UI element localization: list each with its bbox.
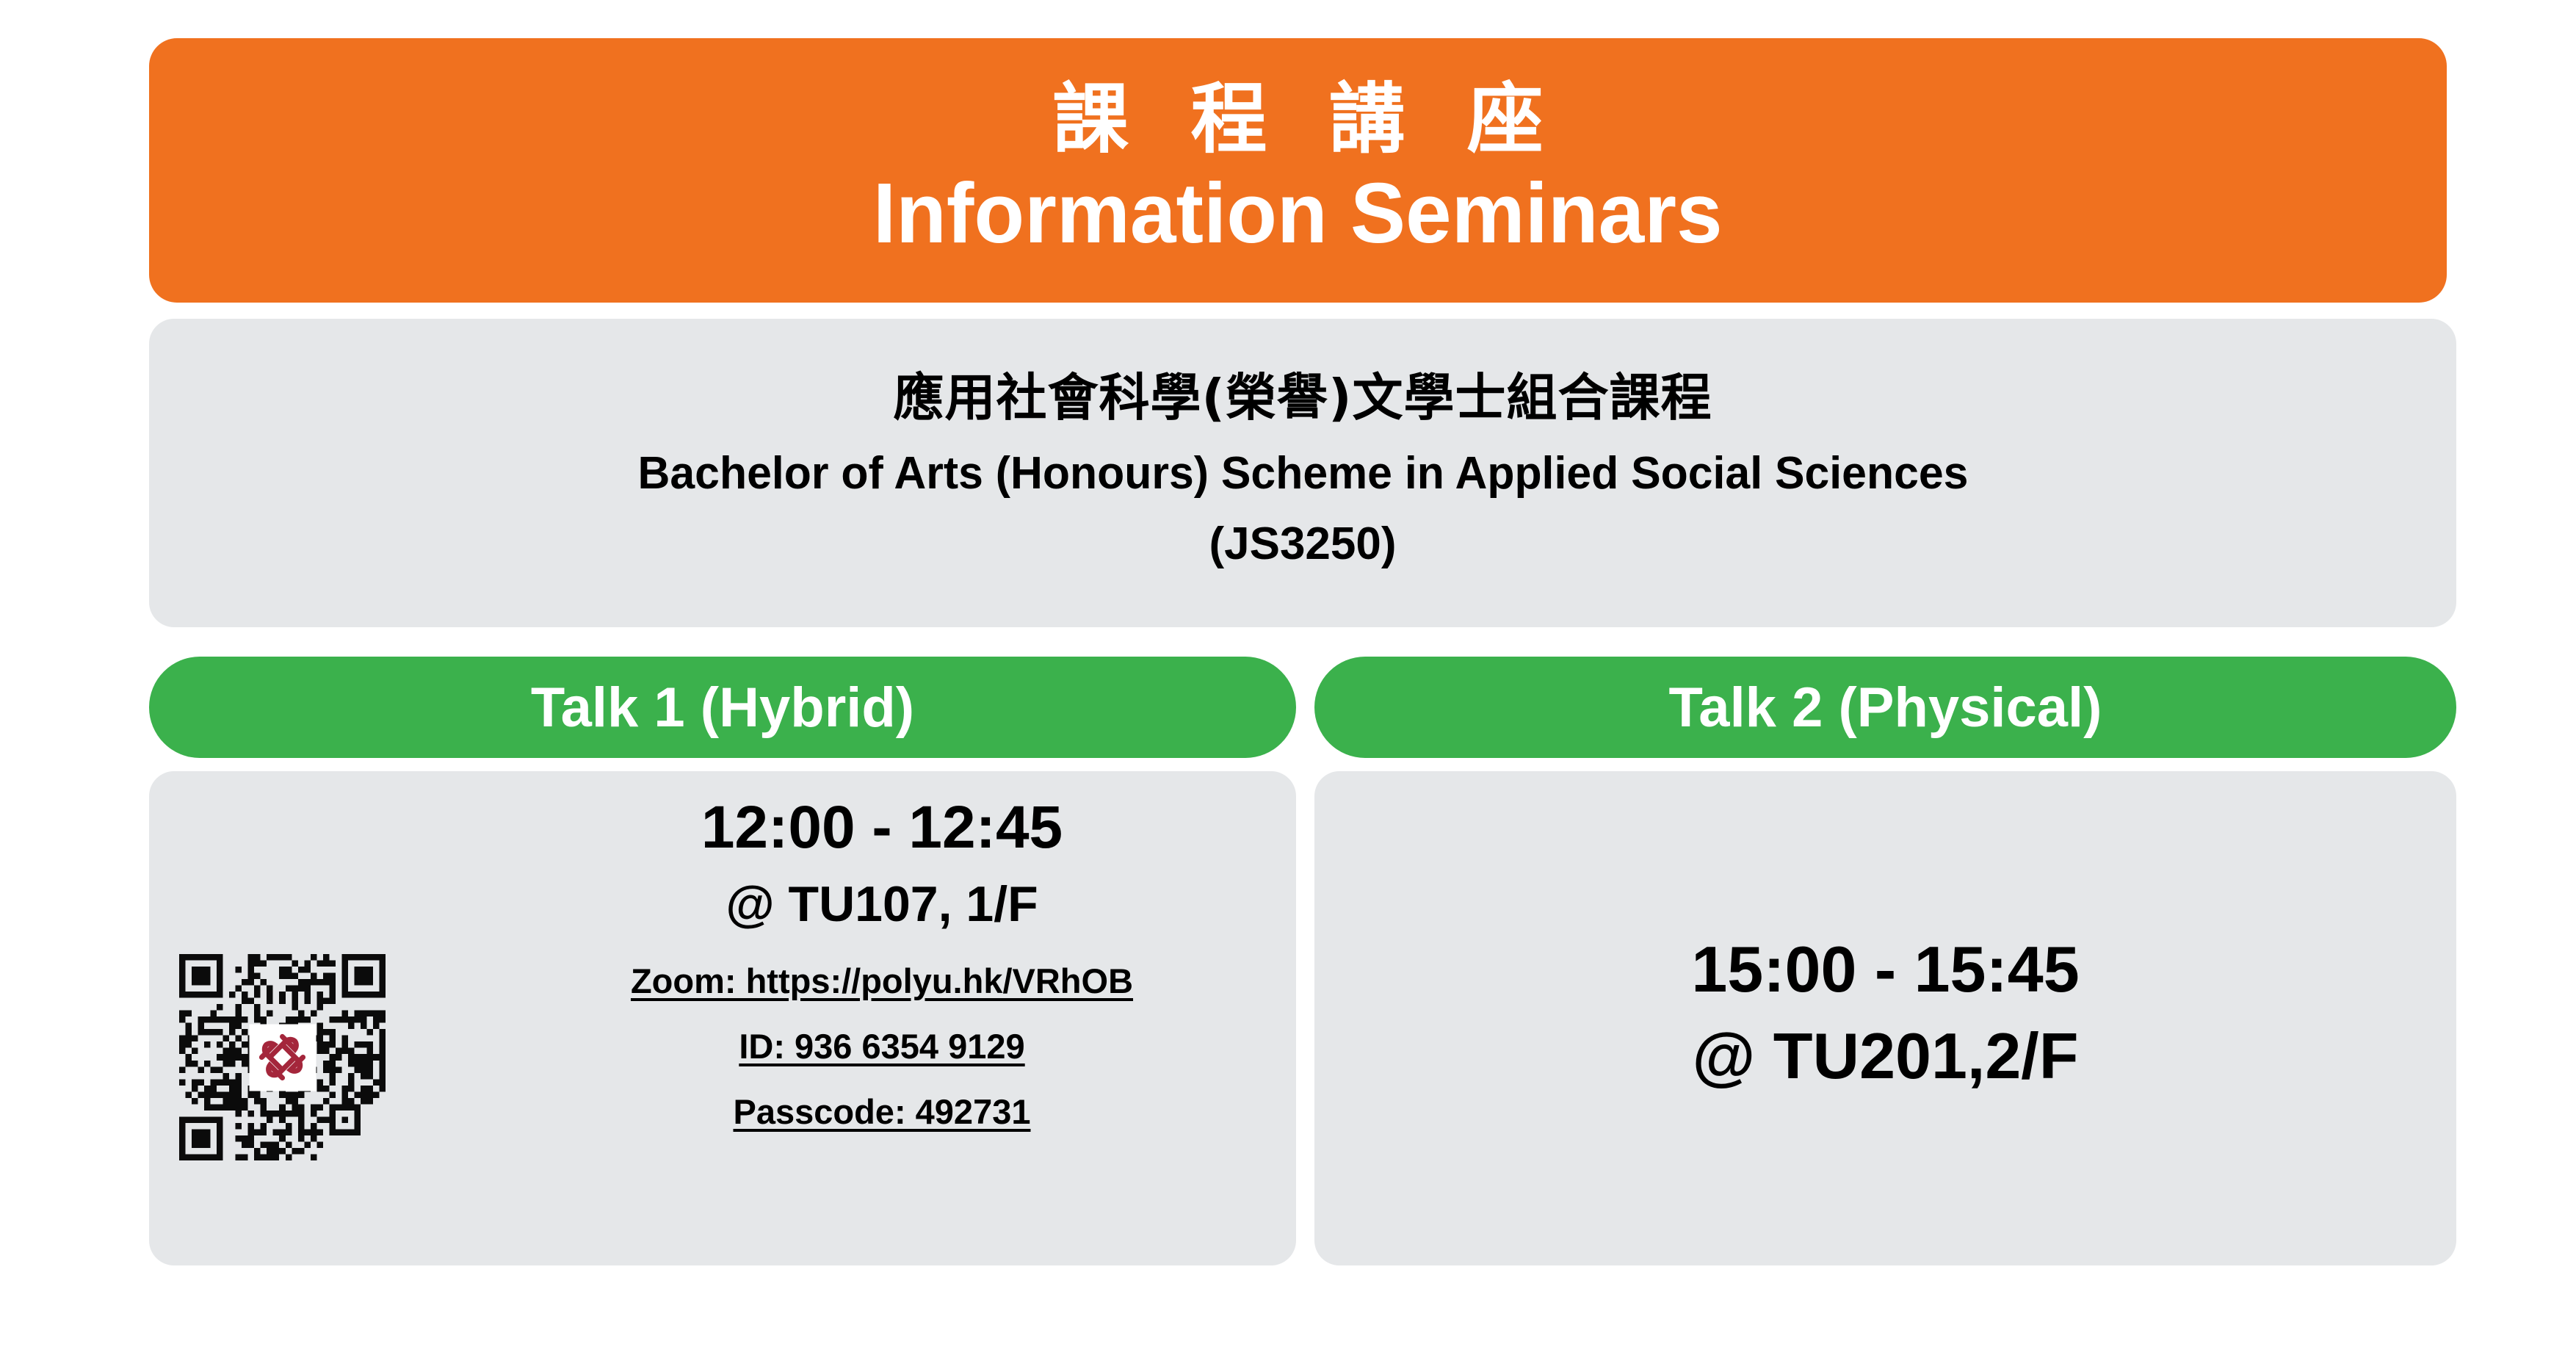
header-banner: 課 程 講 座 Information Seminars bbox=[149, 38, 2447, 303]
talk-1-zoom-link[interactable]: Zoom: https://polyu.hk/VRhOB bbox=[631, 961, 1133, 1001]
talk-1-panel: 12:00 - 12:45 @ TU107, 1/F Zoom: https:/… bbox=[149, 771, 1296, 1265]
header-title-english: Information Seminars bbox=[873, 167, 1723, 261]
talk-1-header-label: Talk 1 (Hybrid) bbox=[531, 676, 914, 740]
qr-code[interactable] bbox=[179, 954, 386, 1160]
talk-1-time: 12:00 - 12:45 bbox=[701, 795, 1063, 861]
talk-2-venue: @ TU201,2/F bbox=[1693, 1019, 2079, 1093]
talk-2-header-label: Talk 2 (Physical) bbox=[1669, 676, 2102, 740]
programme-info-panel: 應用社會科學(榮譽)文學士組合課程 Bachelor of Arts (Hono… bbox=[149, 319, 2456, 627]
talk-1-zoom-meeting-id: ID: 936 6354 9129 bbox=[739, 1026, 1024, 1066]
talk-2-header: Talk 2 (Physical) bbox=[1314, 657, 2456, 758]
programme-name-chinese: 應用社會科學(榮譽)文學士組合課程 bbox=[893, 366, 1712, 430]
talk-2-time: 15:00 - 15:45 bbox=[1691, 932, 2079, 1006]
talk-1-header: Talk 1 (Hybrid) bbox=[149, 657, 1296, 758]
talk-1-zoom-passcode: Passcode: 492731 bbox=[733, 1091, 1030, 1132]
talk-2-panel: 15:00 - 15:45 @ TU201,2/F bbox=[1314, 771, 2456, 1265]
header-title-chinese: 課 程 講 座 bbox=[1035, 76, 1561, 164]
programme-jupas-code: (JS3250) bbox=[1209, 513, 1396, 575]
talk-1-venue: @ TU107, 1/F bbox=[726, 875, 1038, 933]
polyu-knot-icon bbox=[254, 1029, 311, 1086]
polyu-logo-icon bbox=[249, 1024, 316, 1091]
programme-name-english: Bachelor of Arts (Honours) Scheme in App… bbox=[637, 443, 1968, 505]
